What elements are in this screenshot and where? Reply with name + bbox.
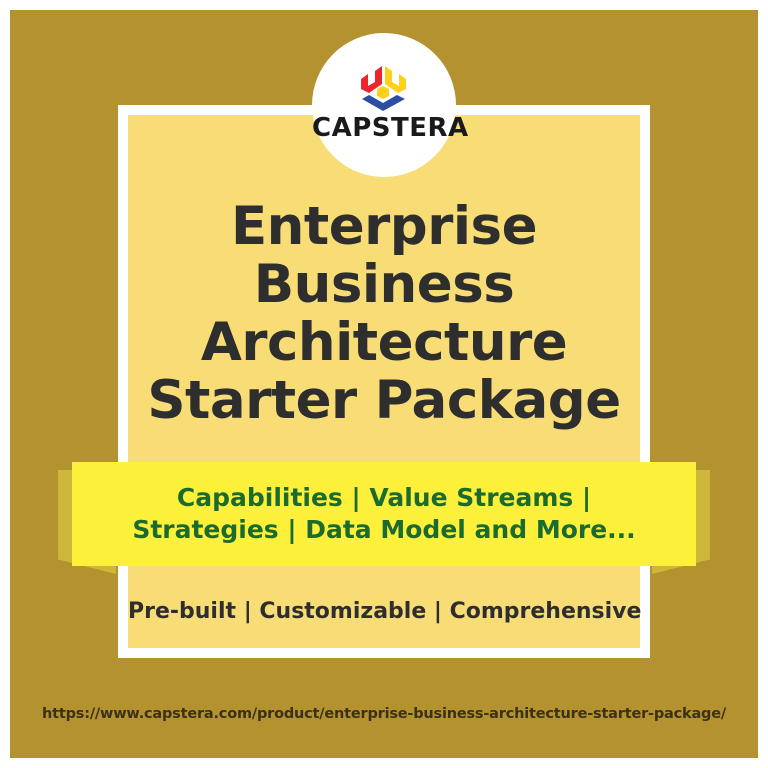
brand-logo-badge: CAPSTERA [312, 33, 456, 177]
brand-wordmark: CAPSTERA [312, 115, 456, 141]
ribbon-text: Capabilities | Value Streams | Strategie… [132, 482, 635, 546]
headline-line-1: Enterprise [128, 198, 640, 256]
headline-line-4: Starter Package [128, 372, 640, 430]
tagline-text: Pre-built | Customizable | Comprehensive [128, 597, 640, 627]
page-title: Enterprise Business Architecture Starter… [128, 198, 640, 430]
headline-line-3: Architecture [128, 314, 640, 372]
product-url-link[interactable]: https://www.capstera.com/product/enterpr… [10, 706, 758, 722]
feature-ribbon-banner: Capabilities | Value Streams | Strategie… [58, 462, 710, 580]
headline-line-2: Business [128, 256, 640, 314]
capstera-cube-logo-icon [357, 63, 411, 113]
poster-canvas: CAPSTERA Enterprise Business Architectur… [0, 0, 768, 768]
ribbon-line-1: Capabilities | Value Streams | [132, 482, 635, 514]
ribbon-face: Capabilities | Value Streams | Strategie… [72, 462, 696, 566]
ribbon-line-2: Strategies | Data Model and More... [132, 514, 635, 546]
